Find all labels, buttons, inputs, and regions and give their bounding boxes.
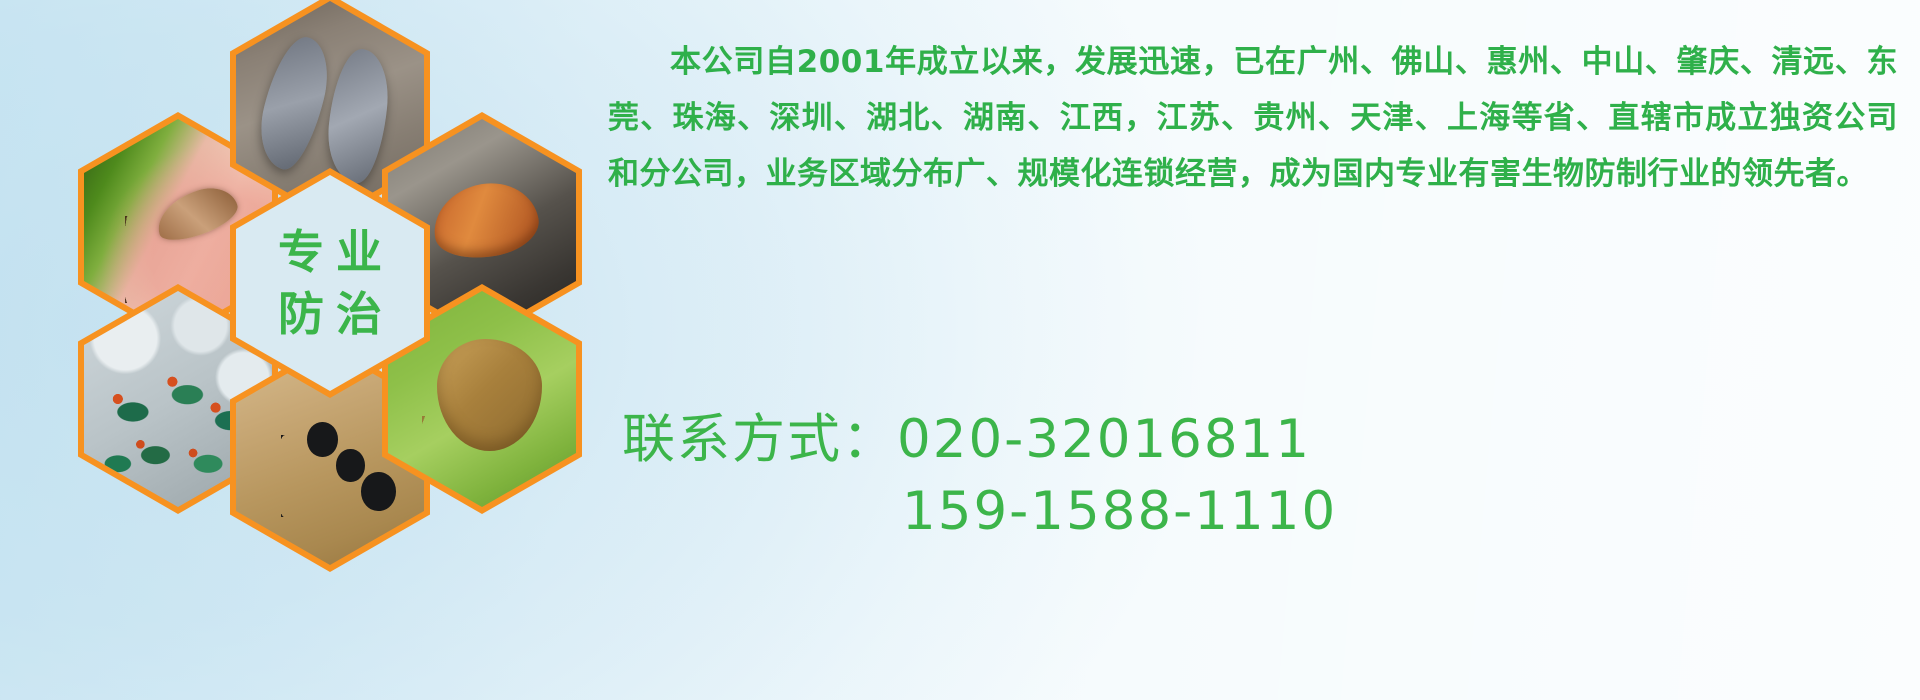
- contact-block: 联系方式：020-32016811 159-1588-1110: [622, 404, 1902, 548]
- slogan-line-2: 防治: [266, 283, 394, 345]
- contact-secondary-line[interactable]: 159-1588-1110: [622, 476, 1902, 548]
- slogan-line-1: 专业: [266, 221, 394, 283]
- company-intro-paragraph: 本公司自2001年成立以来，发展迅速，已在广州、佛山、惠州、中山、肇庆、清远、东…: [608, 34, 1898, 202]
- contact-primary-line[interactable]: 联系方式：020-32016811: [622, 404, 1902, 476]
- content-column: 本公司自2001年成立以来，发展迅速，已在广州、佛山、惠州、中山、肇庆、清远、东…: [608, 0, 1908, 700]
- honeycomb-cluster: 专业 防治: [78, 0, 598, 574]
- banner-root: 专业 防治 本公司自2001年成立以来，发展迅速，已在广州、佛山、惠州、中山、肇…: [0, 0, 1920, 700]
- hex-slogan-inner: 专业 防治: [236, 175, 424, 391]
